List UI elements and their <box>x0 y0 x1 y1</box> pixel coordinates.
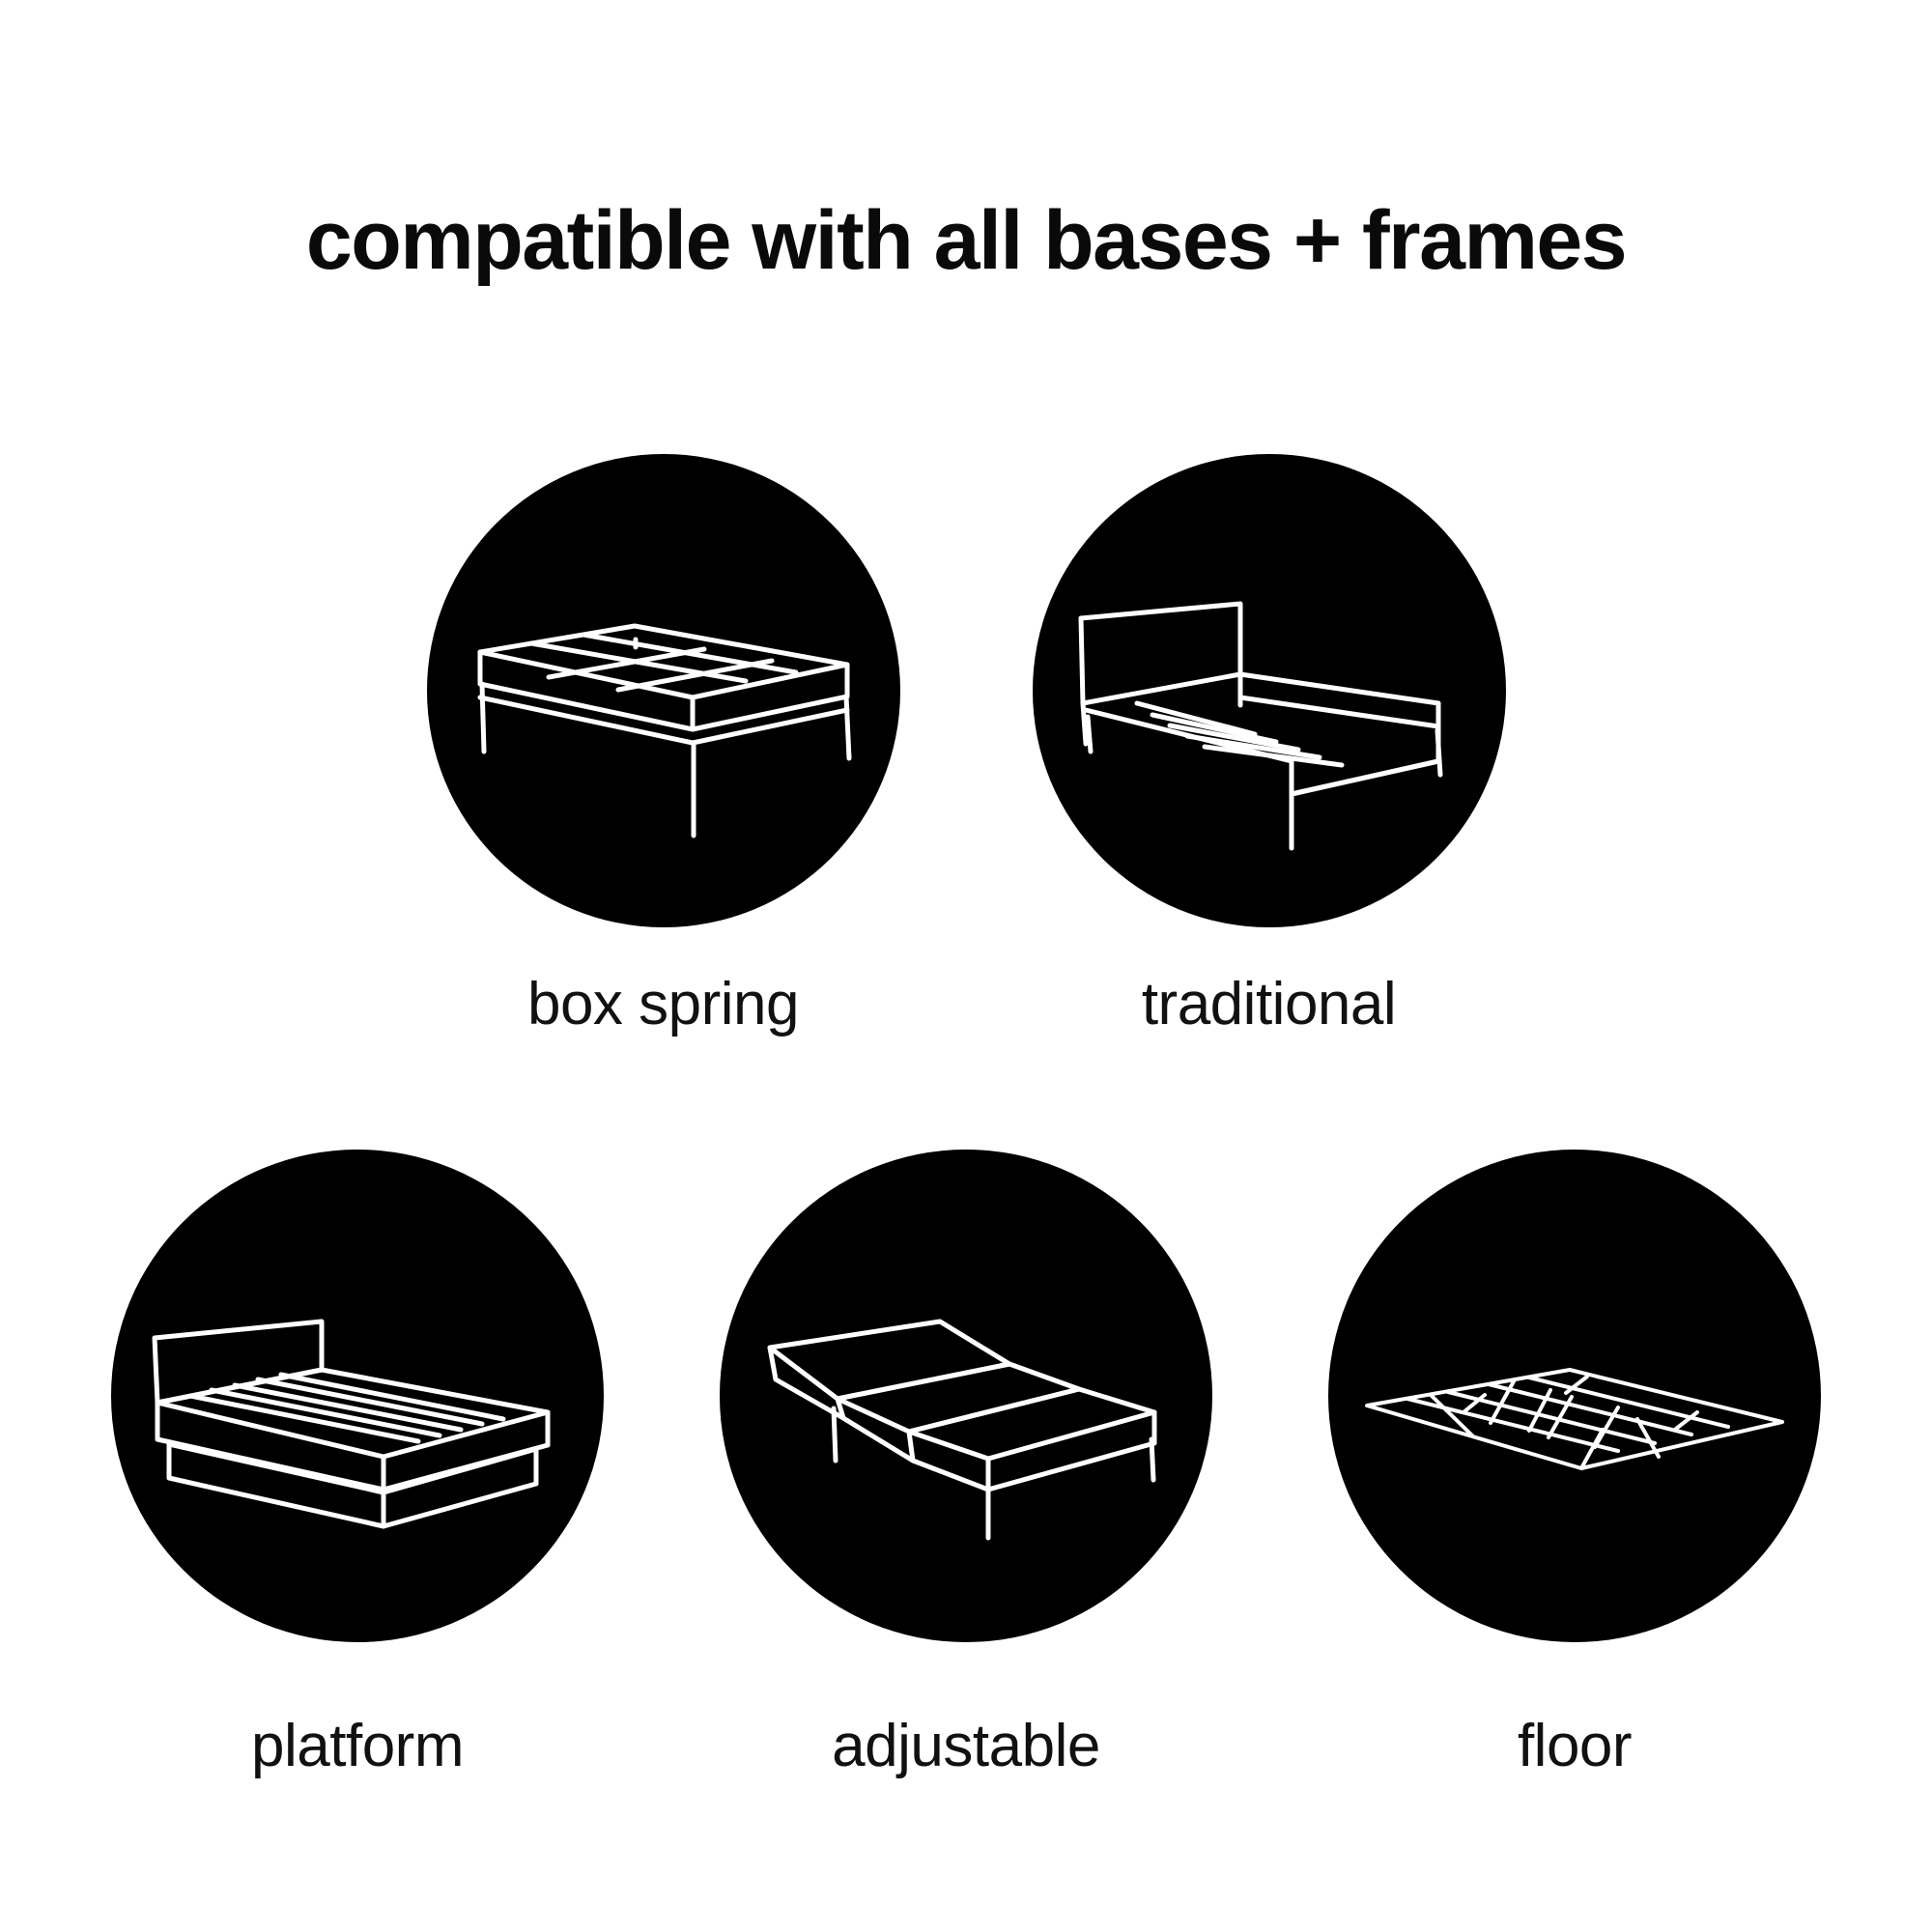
base-option-label: traditional <box>1142 970 1396 1038</box>
base-option-label: floor <box>1518 1712 1632 1780</box>
base-option-box-spring[interactable]: box spring <box>427 454 900 1038</box>
platform-bed-icon <box>111 1150 604 1642</box>
adjustable-base-icon <box>720 1150 1212 1642</box>
traditional-badge <box>1033 454 1506 927</box>
base-option-floor[interactable]: floor <box>1328 1150 1821 1780</box>
base-option-label: adjustable <box>832 1712 1100 1780</box>
base-option-platform[interactable]: platform <box>111 1150 604 1780</box>
base-types-row-top: box spring <box>0 454 1932 1038</box>
compatibility-infographic: compatible with all bases + frames <box>0 0 1932 1932</box>
base-option-label: platform <box>251 1712 464 1780</box>
box-spring-badge <box>427 454 900 927</box>
adjustable-badge <box>720 1150 1212 1642</box>
floor-badge <box>1328 1150 1821 1642</box>
base-option-adjustable[interactable]: adjustable <box>720 1150 1212 1780</box>
base-option-traditional[interactable]: traditional <box>1033 454 1506 1038</box>
page-title: compatible with all bases + frames <box>0 199 1932 282</box>
box-spring-bed-icon <box>427 454 900 927</box>
platform-badge <box>111 1150 604 1642</box>
base-option-label: box spring <box>527 970 799 1038</box>
floor-surface-icon <box>1328 1150 1821 1642</box>
traditional-bed-frame-icon <box>1033 454 1506 927</box>
base-types-row-bottom: platform <box>0 1150 1932 1780</box>
